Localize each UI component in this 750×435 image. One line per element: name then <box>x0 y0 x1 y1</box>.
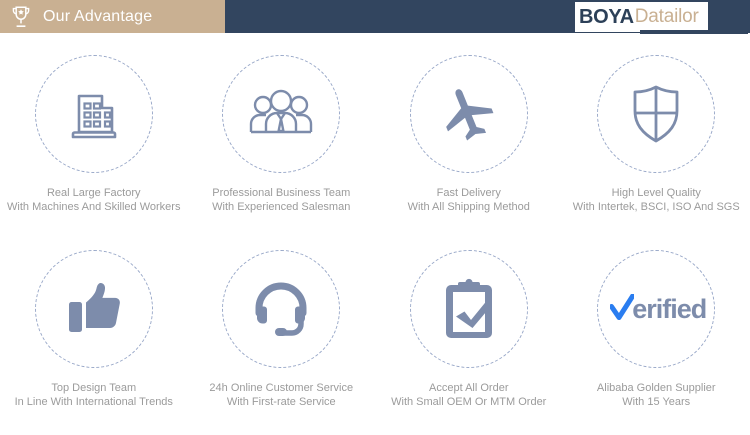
advantage-caption: Professional Business Team With Experien… <box>212 187 350 214</box>
business-team-people-icon <box>248 86 314 142</box>
shield-quality-icon <box>627 83 685 145</box>
headset-support-icon <box>251 280 311 338</box>
caption-line-2: With Small OEM Or MTM Order <box>391 396 546 410</box>
caption-line-1: Professional Business Team <box>212 187 350 201</box>
caption-line-2: With First-rate Service <box>209 396 353 410</box>
thumbs-up-icon <box>63 279 125 339</box>
icon-circle <box>222 250 340 368</box>
icon-circle <box>410 55 528 173</box>
advantage-caption: Accept All Order With Small OEM Or MTM O… <box>391 382 546 409</box>
page-header: Our Advantage BOYA Datailor <box>0 0 750 33</box>
caption-line-1: High Level Quality <box>573 187 740 201</box>
page-title: Our Advantage <box>43 8 152 26</box>
advantage-card-alibaba: erified Alibaba Golden Supplier With 15 … <box>563 234 750 435</box>
advantage-card-support: 24h Online Customer Service With First-r… <box>188 234 376 435</box>
factory-building-icon <box>63 83 125 145</box>
brand-logo: BOYA Datailor <box>571 2 708 32</box>
caption-line-1: Real Large Factory <box>7 187 180 201</box>
advantage-card-team: Professional Business Team With Experien… <box>188 33 376 234</box>
caption-line-1: Top Design Team <box>15 382 173 396</box>
verified-label: erified <box>632 294 706 325</box>
advantage-caption: Fast Delivery With All Shipping Method <box>408 187 530 214</box>
caption-line-2: With Intertek, BSCI, ISO And SGS <box>573 201 740 215</box>
caption-line-2: With Experienced Salesman <box>212 201 350 215</box>
caption-line-1: Fast Delivery <box>408 187 530 201</box>
advantage-caption: 24h Online Customer Service With First-r… <box>209 382 353 409</box>
icon-circle <box>222 55 340 173</box>
trophy-icon <box>9 5 33 29</box>
verified-badge-icon: erified <box>610 294 706 325</box>
header-title-banner: Our Advantage <box>0 0 225 33</box>
icon-circle: erified <box>597 250 715 368</box>
advantage-caption: Top Design Team In Line With Internation… <box>15 382 173 409</box>
icon-circle <box>35 250 153 368</box>
caption-line-2: With Machines And Skilled Workers <box>7 201 180 215</box>
icon-circle <box>410 250 528 368</box>
advantage-caption: Real Large Factory With Machines And Ski… <box>7 187 180 214</box>
caption-line-1: Alibaba Golden Supplier <box>597 382 716 396</box>
advantage-card-delivery: Fast Delivery With All Shipping Method <box>375 33 563 234</box>
caption-line-1: Accept All Order <box>391 382 546 396</box>
caption-line-2: In Line With International Trends <box>15 396 173 410</box>
advantage-caption: High Level Quality With Intertek, BSCI, … <box>573 187 740 214</box>
advantages-grid: Real Large Factory With Machines And Ski… <box>0 33 750 435</box>
brand-logo-primary: BOYA <box>579 6 634 29</box>
icon-circle <box>597 55 715 173</box>
advantage-card-quality: High Level Quality With Intertek, BSCI, … <box>563 33 750 234</box>
advantage-card-orders: Accept All Order With Small OEM Or MTM O… <box>375 234 563 435</box>
caption-line-2: With 15 Years <box>597 396 716 410</box>
advantage-card-design: Top Design Team In Line With Internation… <box>0 234 188 435</box>
check-mark-icon <box>610 294 634 324</box>
brand-logo-secondary: Datailor <box>635 6 699 28</box>
advantage-card-factory: Real Large Factory With Machines And Ski… <box>0 33 188 234</box>
caption-line-2: With All Shipping Method <box>408 201 530 215</box>
airplane-icon <box>438 83 500 145</box>
icon-circle <box>35 55 153 173</box>
clipboard-check-icon <box>442 278 496 340</box>
advantage-caption: Alibaba Golden Supplier With 15 Years <box>597 382 716 409</box>
caption-line-1: 24h Online Customer Service <box>209 382 353 396</box>
